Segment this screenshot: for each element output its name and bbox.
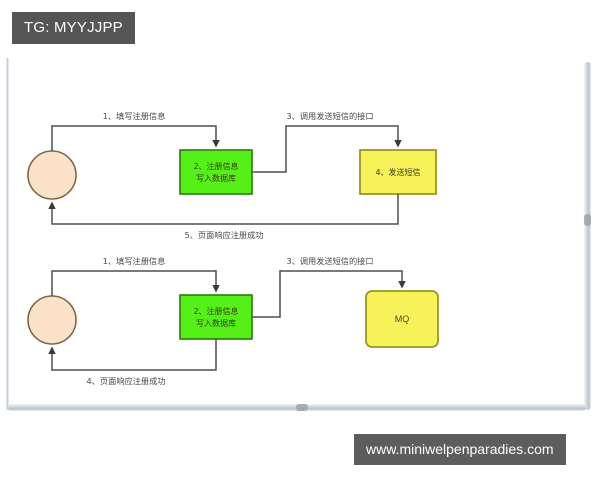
user-actor-node-1[interactable]: [28, 151, 76, 199]
vertical-scrollbar[interactable]: [584, 62, 591, 410]
db-write-node-2-label-line1: 2、注册信息: [193, 306, 238, 316]
edge-fill-register-info-1: [52, 126, 216, 151]
tg-handle-badge: TG: MYYJJPP: [12, 12, 135, 44]
site-watermark: www.miniwelpenparadies.com: [354, 434, 566, 465]
vertical-scrollbar-thumb[interactable]: [584, 214, 591, 226]
edge-label-5-page-response-success: 5、页面响应注册成功: [185, 230, 264, 240]
flow-async-group: 2、注册信息 写入数据库 MQ 1、填写注册信息 3、调用发送短信的接口 4、页…: [28, 256, 438, 386]
flowchart-svg: 2、注册信息 写入数据库 4、发送短信 1、填写注册信息 3、调用发送短信的接口…: [8, 58, 592, 410]
diagram-canvas[interactable]: 2、注册信息 写入数据库 4、发送短信 1、填写注册信息 3、调用发送短信的接口…: [8, 58, 592, 410]
db-write-node-2-label-line2: 写入数据库: [196, 318, 236, 328]
db-write-node-1-label-line2: 写入数据库: [196, 173, 236, 183]
page-left-edge: [6, 58, 9, 410]
mq-node-label: MQ: [395, 314, 410, 324]
user-actor-node-2[interactable]: [28, 296, 76, 344]
edge-page-response-success-2: [52, 339, 216, 370]
edge-page-response-success-1: [52, 194, 398, 224]
edge-label-1-fill-register-info: 1、填写注册信息: [103, 111, 166, 121]
edge-label-4b-page-response-success: 4、页面响应注册成功: [87, 376, 166, 386]
flow-sync-group: 2、注册信息 写入数据库 4、发送短信 1、填写注册信息 3、调用发送短信的接口…: [28, 111, 436, 240]
db-write-node-1-label-line1: 2、注册信息: [193, 161, 238, 171]
edge-label-3-call-sms-api: 3、调用发送短信的接口: [286, 111, 373, 121]
document-canvas-frame: 2、注册信息 写入数据库 4、发送短信 1、填写注册信息 3、调用发送短信的接口…: [8, 58, 592, 410]
edge-label-3b-call-sms-api: 3、调用发送短信的接口: [286, 256, 373, 266]
horizontal-scrollbar-thumb[interactable]: [296, 404, 308, 411]
send-sms-node-label: 4、发送短信: [375, 167, 420, 177]
edge-label-1b-fill-register-info: 1、填写注册信息: [103, 256, 166, 266]
edge-fill-register-info-2: [52, 271, 216, 296]
db-write-node-1[interactable]: [180, 150, 252, 194]
db-write-node-2[interactable]: [180, 295, 252, 339]
